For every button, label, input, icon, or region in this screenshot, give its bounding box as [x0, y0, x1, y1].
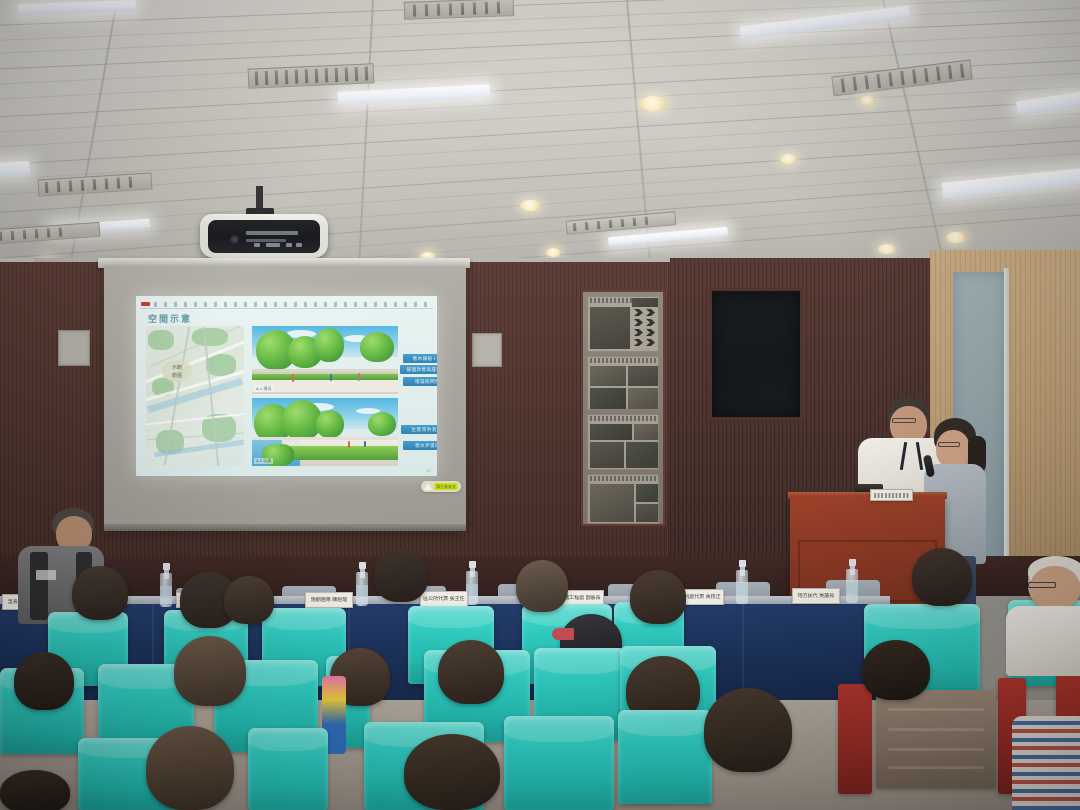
- slide-render-lower-label: A-2 示意: [254, 458, 273, 464]
- recessed-downlight: [780, 154, 797, 164]
- fluorescent-strip-light: [1016, 78, 1080, 115]
- projector-model-text: [246, 239, 286, 242]
- audience-head: [912, 548, 972, 606]
- water-bottle: [356, 562, 368, 606]
- fluorescent-strip-light: [18, 0, 136, 15]
- table-name-card-text: 規劃團隊 陳經理: [308, 597, 350, 604]
- speaker-female-head: [936, 430, 970, 468]
- water-bottle: [160, 563, 172, 607]
- slide-callout: 喬木補植＋草皮: [403, 354, 437, 363]
- screen-warning-badge: 請注意安全: [421, 481, 461, 492]
- recessed-downlight: [520, 200, 541, 211]
- attendee-striped-shirt: [1012, 716, 1080, 810]
- cap-brim-icon: [552, 628, 574, 640]
- warning-triangle-icon: [424, 483, 432, 490]
- glasses-icon: [938, 442, 960, 447]
- audience-head: [174, 636, 246, 706]
- poster-photo: [590, 388, 626, 409]
- table-name-card: 區公所代表 張主任: [420, 591, 468, 607]
- poster-photo: [636, 504, 659, 522]
- audience-seat[interactable]: [248, 728, 328, 810]
- project-display-poster: [581, 290, 665, 526]
- recessed-downlight: [546, 248, 561, 257]
- slide-logo-mark-icon: [141, 302, 150, 306]
- recessed-downlight: [640, 96, 667, 111]
- audience-head: [704, 688, 792, 772]
- table-name-card-text: 區公所代表 張主任: [423, 596, 465, 603]
- slide-header-text: [154, 302, 431, 307]
- poster-photo: [634, 424, 659, 440]
- warning-badge-text: 請注意安全: [434, 483, 458, 490]
- projector-face: [208, 220, 320, 253]
- poster-panel-heading: [590, 476, 656, 481]
- slide-map-badge: 示範 範圍: [162, 360, 192, 382]
- side-seat-frame[interactable]: [838, 684, 872, 794]
- audience-head: [516, 560, 568, 612]
- poster-photo: [590, 366, 626, 386]
- staff-vest-text: [36, 570, 56, 580]
- projected-slide: 空間示意 示範 範圍: [136, 296, 437, 476]
- dark-wall-display-panel: [709, 288, 803, 420]
- poster-plan-image: [590, 307, 630, 349]
- side-seat-shell[interactable]: [876, 690, 996, 788]
- audience-head: [224, 576, 274, 624]
- audience-head: [374, 548, 428, 602]
- poster-photo: [628, 388, 659, 409]
- slide-location-map: 示範 範圍: [146, 326, 244, 466]
- elderly-head: [1030, 566, 1080, 610]
- ceiling: [0, 0, 1080, 272]
- poster-panel: [587, 296, 659, 352]
- table-name-card: 地方民代 吳議員: [792, 588, 840, 604]
- water-bottle: [736, 560, 748, 604]
- audience-head: [146, 726, 234, 810]
- audience-seat[interactable]: [618, 710, 712, 804]
- audience-head: [862, 640, 930, 700]
- fluorescent-strip-light: [338, 84, 490, 105]
- audience-head: [72, 566, 128, 620]
- fluorescent-strip-light: [0, 161, 30, 185]
- screen-bottom-bar: [104, 524, 466, 531]
- slide-render-upper-label: A-1 現況: [254, 386, 273, 392]
- projector-led-icon: [254, 243, 260, 247]
- audience-head: [630, 570, 686, 624]
- poster-panel: [587, 474, 659, 524]
- elderly-shirt: [1006, 606, 1080, 676]
- ceiling-projector: [200, 214, 328, 258]
- slide-page-number: 12: [427, 468, 431, 473]
- audience-head: [404, 734, 500, 810]
- slide-map-badge-line2: 範圍: [172, 373, 182, 379]
- poster-photo: [590, 484, 634, 522]
- podium-nameplate-text: [874, 493, 909, 498]
- slide-map-badge-line1: 示範: [172, 365, 182, 371]
- poster-photo: [590, 442, 624, 468]
- table-name-card-text: 地方民代 吳議員: [795, 593, 837, 600]
- glasses-icon: [892, 418, 916, 423]
- air-conditioning-vent: [248, 63, 375, 88]
- slide-callout: 鋪面改善與座椅設置: [400, 365, 437, 374]
- poster-diagram: [590, 424, 632, 440]
- fluorescent-strip-light: [740, 6, 910, 40]
- recessed-downlight: [860, 96, 875, 105]
- poster-panel-heading: [590, 358, 656, 363]
- poster-panel: [587, 356, 659, 410]
- recessed-downlight: [946, 232, 966, 243]
- poster-photo: [636, 484, 659, 502]
- poster-photo: [628, 366, 659, 386]
- projector-led-icon: [296, 243, 302, 247]
- recessed-downlight: [878, 244, 896, 254]
- audience-head: [14, 652, 74, 710]
- poster-panel-heading: [590, 416, 656, 421]
- audience-seat[interactable]: [504, 716, 614, 810]
- projector-led-icon: [266, 243, 280, 247]
- slide-render-upper: A-1 現況: [252, 326, 398, 394]
- wall-access-panel: [472, 333, 502, 367]
- wall-panel-edge: [1004, 268, 1009, 574]
- slide-header-strip: [140, 300, 433, 309]
- water-bottle: [846, 559, 858, 603]
- air-conditioning-vent: [404, 0, 515, 20]
- poster-panel: [587, 414, 659, 470]
- audience-head: [438, 640, 504, 704]
- projector-brand-text: [246, 231, 298, 235]
- wall-access-panel: [58, 330, 90, 366]
- slide-callout: 生態滯洪池設計: [401, 425, 437, 434]
- conference-room-scene: 空間示意 示範 範圍: [0, 0, 1080, 810]
- slide-callout: 親水步道串聯: [403, 441, 437, 450]
- table-name-card: 規劃團隊 陳經理: [305, 592, 353, 608]
- podium-nameplate: [870, 489, 913, 501]
- slide-render-lower: A-2 示意: [252, 398, 398, 466]
- audience-head: [0, 770, 70, 810]
- slide-callout: 增設照明燈具: [403, 377, 437, 386]
- projector-led-icon: [286, 243, 292, 247]
- glasses-icon: [1028, 582, 1056, 588]
- staff-vest-stripe: [30, 552, 48, 620]
- poster-aerial-image: [632, 298, 659, 307]
- slide-title: 空間示意: [148, 312, 192, 325]
- projector-lens-icon: [230, 235, 239, 244]
- poster-photo: [626, 442, 659, 468]
